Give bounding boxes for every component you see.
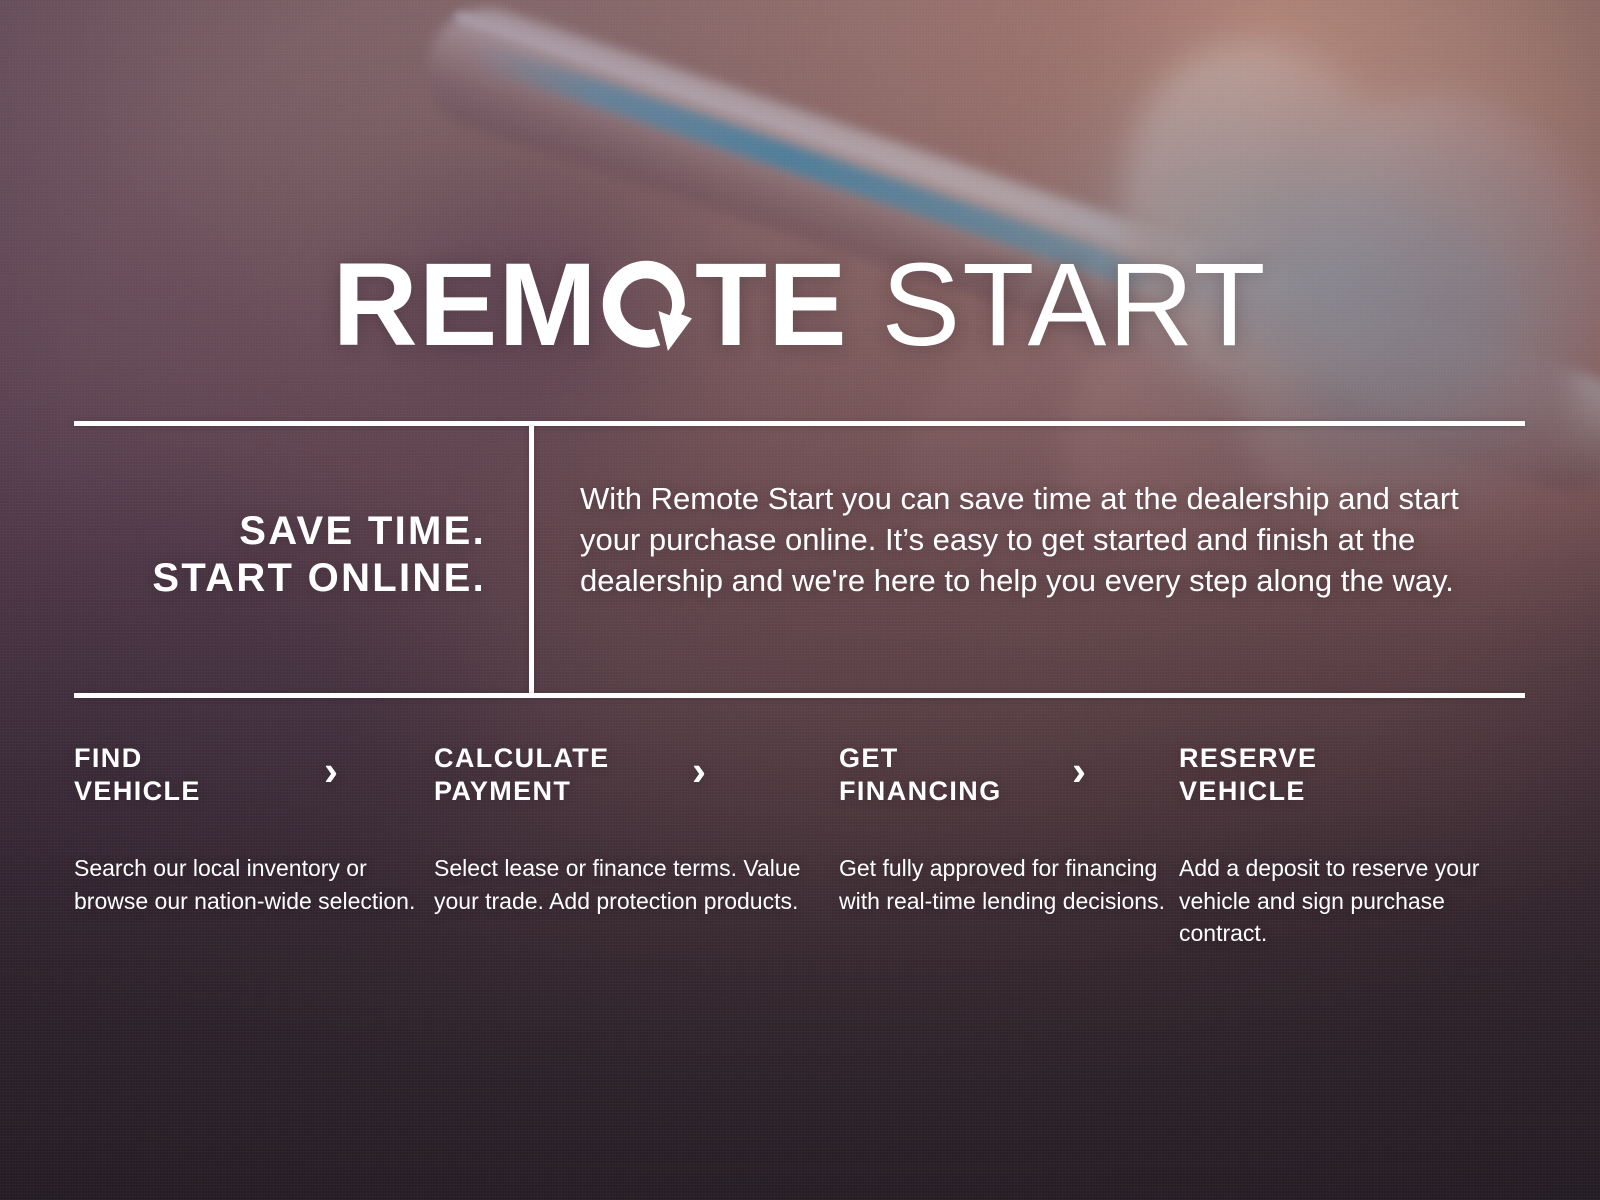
step-title-line-2: VEHICLE xyxy=(74,775,434,808)
chevron-right-icon: › xyxy=(1072,750,1086,792)
restart-circular-arrow-icon xyxy=(599,257,693,351)
step-title-line-1: CALCULATE xyxy=(434,742,839,775)
step-description: Add a deposit to reserve your vehicle an… xyxy=(1179,852,1519,950)
banner-content: REMTE START SAVE TIME. START ONLINE. Wit… xyxy=(0,0,1600,1200)
hero-headline: SAVE TIME. START ONLINE. xyxy=(74,508,486,602)
step-title-line-2: FINANCING xyxy=(839,775,1179,808)
headline-line-1: SAVE TIME. xyxy=(74,508,486,555)
chevron-right-icon: › xyxy=(692,750,706,792)
wordmark-start: START xyxy=(882,239,1268,371)
step-title-line-2: VEHICLE xyxy=(1179,775,1519,808)
step-title: GET FINANCING xyxy=(839,742,1179,808)
wordmark-te: TE xyxy=(695,239,848,371)
step-description: Select lease or finance terms. Value you… xyxy=(434,852,839,917)
step-title-line-2: PAYMENT xyxy=(434,775,839,808)
step-reserve-vehicle[interactable]: RESERVE VEHICLE Add a deposit to reserve… xyxy=(1179,742,1519,950)
hero-paragraph: With Remote Start you can save time at t… xyxy=(580,478,1480,602)
step-title: RESERVE VEHICLE xyxy=(1179,742,1519,808)
process-steps: FIND VEHICLE Search our local inventory … xyxy=(74,742,1534,950)
step-get-financing[interactable]: GET FINANCING Get fully approved for fin… xyxy=(839,742,1179,950)
step-find-vehicle[interactable]: FIND VEHICLE Search our local inventory … xyxy=(74,742,434,950)
remote-start-hero-banner: REMTE START SAVE TIME. START ONLINE. Wit… xyxy=(0,0,1600,1200)
step-description: Get fully approved for financing with re… xyxy=(839,852,1179,917)
remote-start-wordmark: REMTE START xyxy=(0,246,1600,364)
step-title: FIND VEHICLE xyxy=(74,742,434,808)
step-title-line-1: FIND xyxy=(74,742,434,775)
headline-line-2: START ONLINE. xyxy=(74,555,486,602)
divider-top xyxy=(74,421,1525,426)
chevron-right-icon: › xyxy=(324,750,338,792)
step-calculate-payment[interactable]: CALCULATE PAYMENT Select lease or financ… xyxy=(434,742,839,950)
step-title: CALCULATE PAYMENT xyxy=(434,742,839,808)
step-title-line-1: GET xyxy=(839,742,1179,775)
divider-bottom xyxy=(74,693,1525,698)
step-title-line-1: RESERVE xyxy=(1179,742,1519,775)
divider-vertical xyxy=(529,426,534,693)
wordmark-rem: REM xyxy=(333,239,598,371)
step-description: Search our local inventory or browse our… xyxy=(74,852,434,917)
